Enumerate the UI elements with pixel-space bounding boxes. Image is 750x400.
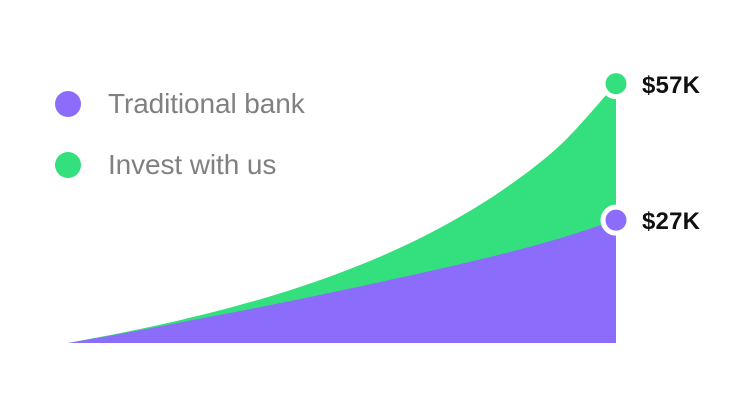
data-point-ring-dot-icon[interactable] xyxy=(603,207,629,233)
endpoint-value-traditional-bank: $27K xyxy=(642,208,700,236)
chart-legend: Traditional bank Invest with us xyxy=(55,86,305,208)
endpoint-value-invest-with-us: $57K xyxy=(642,72,700,100)
legend-item-traditional-bank[interactable]: Traditional bank xyxy=(55,86,305,122)
legend-item-label: Traditional bank xyxy=(108,88,305,120)
circle-swatch-icon xyxy=(55,152,81,178)
circle-swatch-icon xyxy=(55,91,81,117)
data-point-dot-icon[interactable] xyxy=(603,71,629,97)
legend-item-label: Invest with us xyxy=(108,149,276,181)
legend-item-invest-with-us[interactable]: Invest with us xyxy=(55,147,305,183)
growth-comparison-chart: Traditional bank Invest with us $57K $27… xyxy=(0,0,750,400)
